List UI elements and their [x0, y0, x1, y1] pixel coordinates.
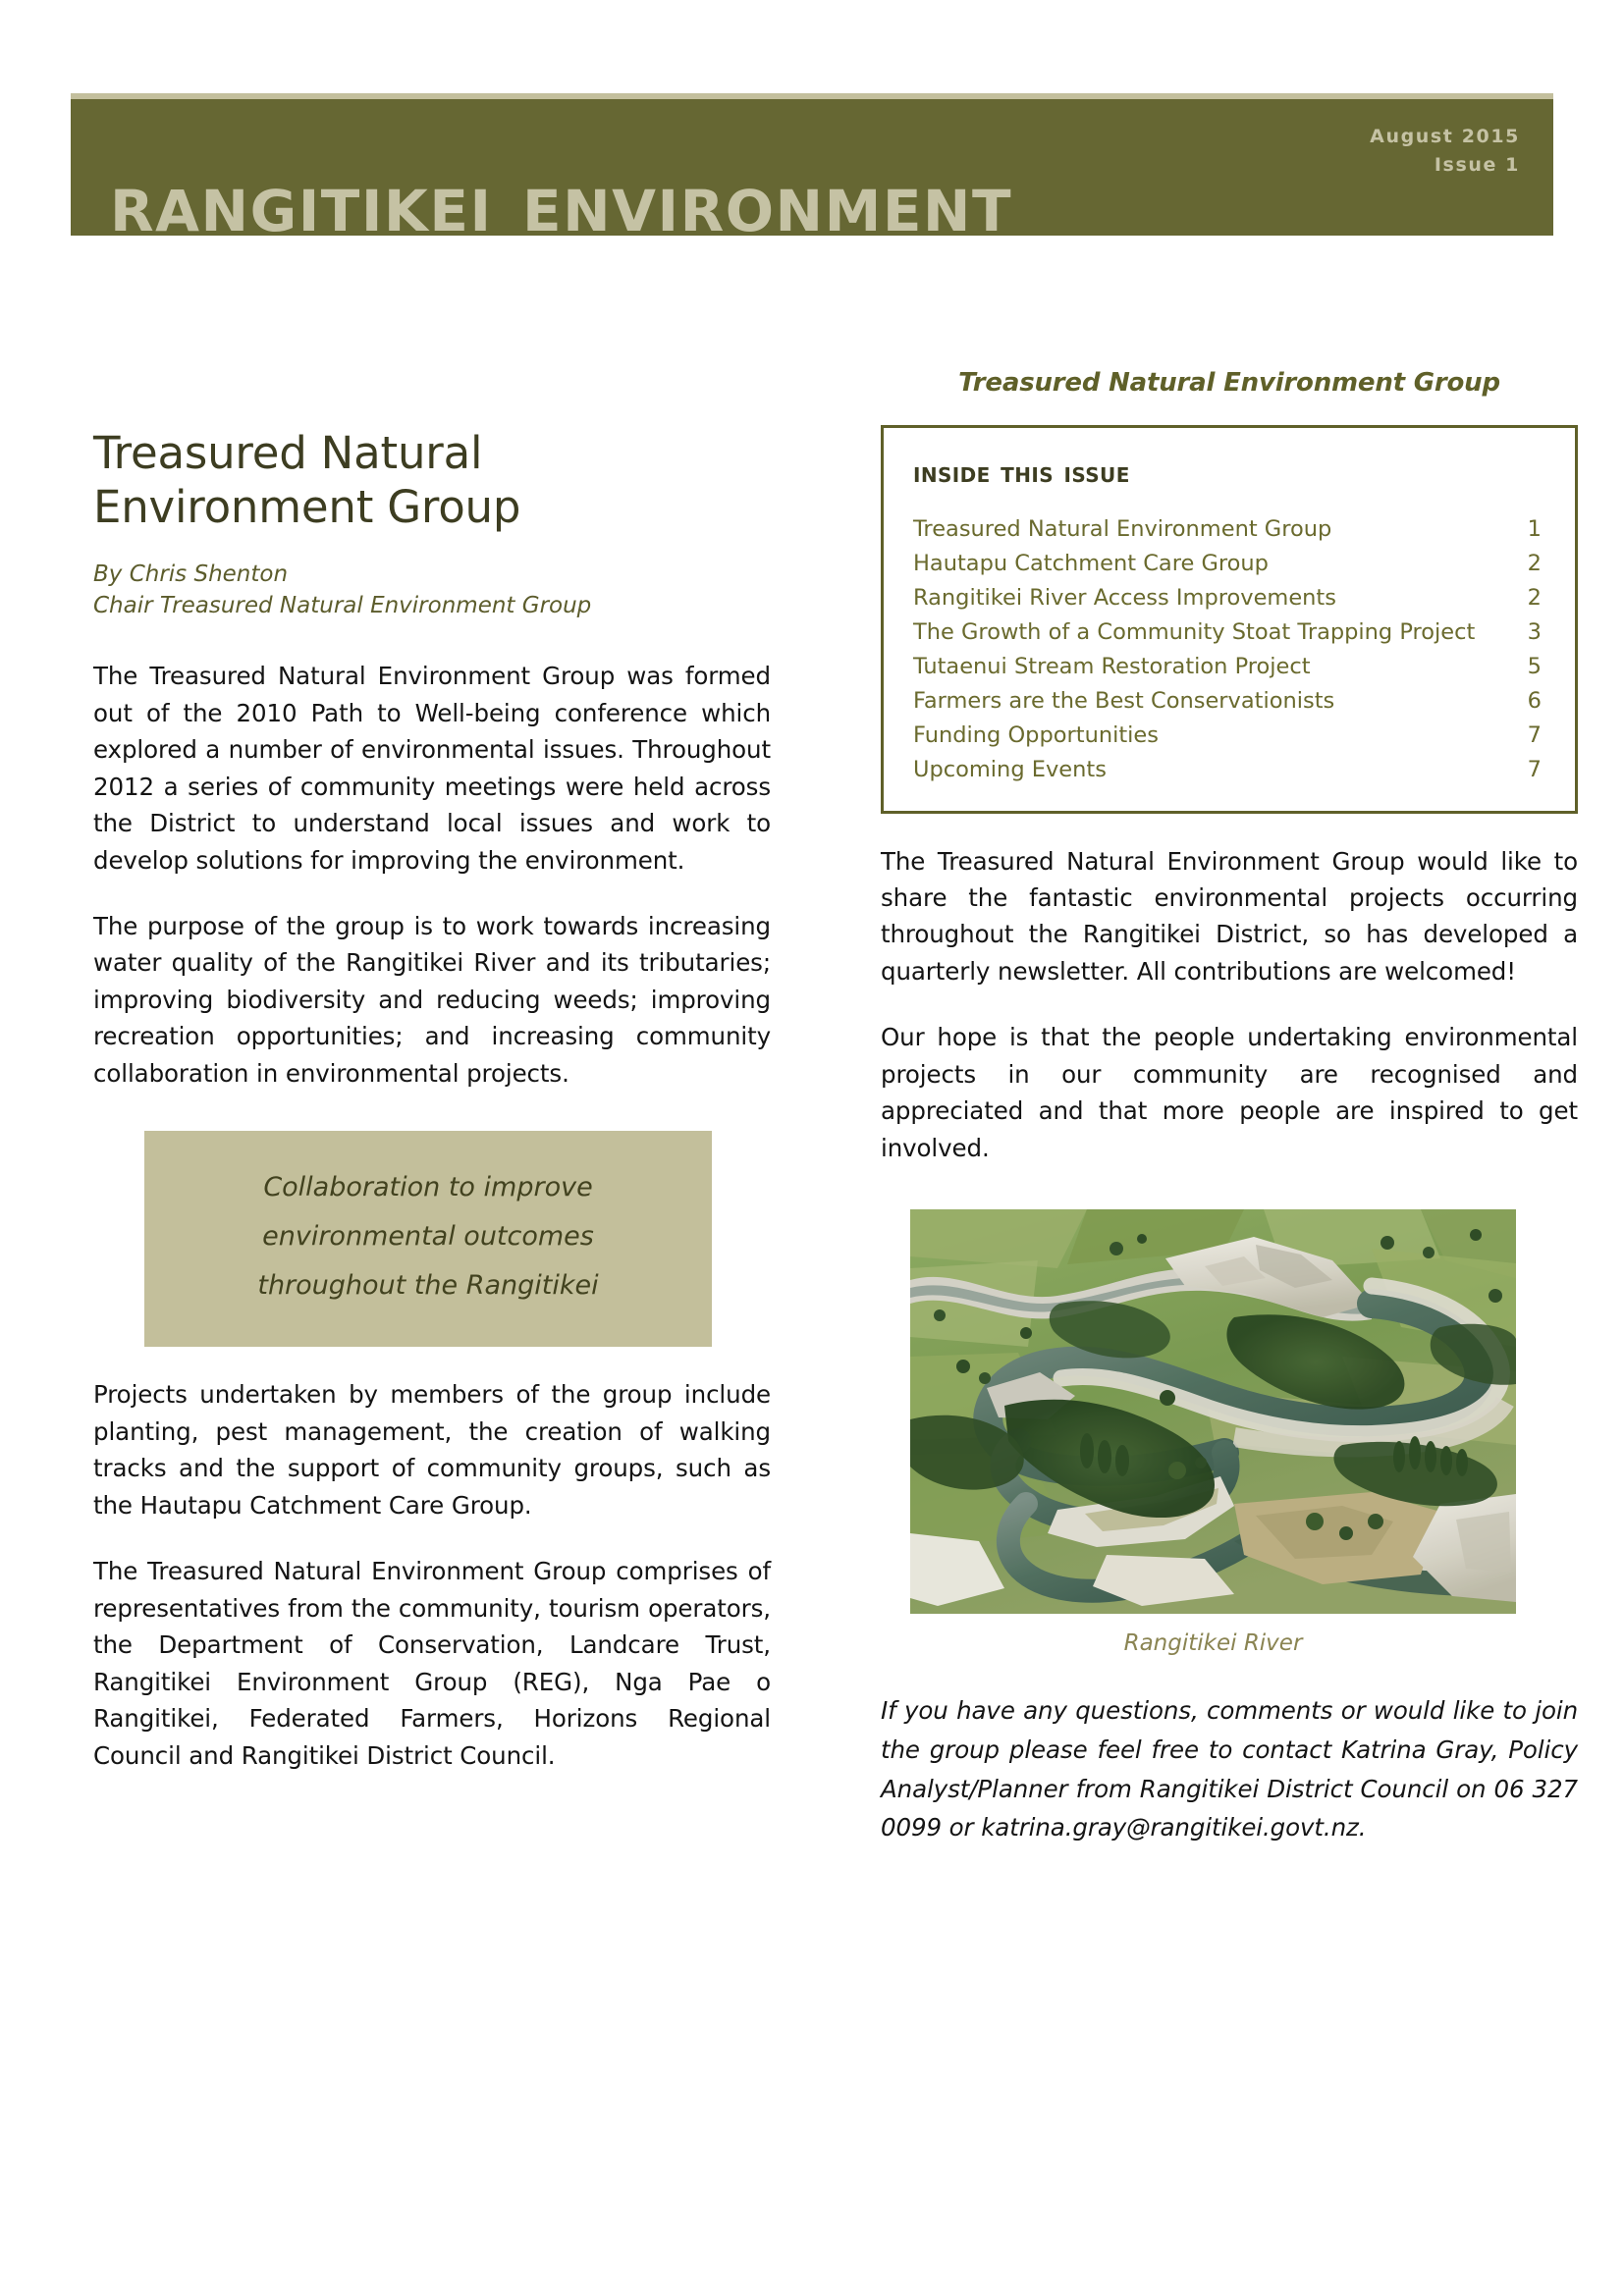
toc-entry-label: The Growth of a Community Stoat Trapping… — [913, 621, 1502, 644]
toc-entry[interactable]: Farmers are the Best Conservationists 6 — [913, 690, 1542, 713]
toc-entry-label: Hautapu Catchment Care Group — [913, 553, 1502, 575]
article-headline: Treasured Natural Environment Group — [93, 427, 771, 535]
issue-number: Issue 1 — [1370, 151, 1520, 180]
toc-entry-label: Funding Opportunities — [913, 724, 1502, 747]
masthead-meta: August 2015 Issue 1 — [1370, 123, 1520, 181]
toc-entry-label: Farmers are the Best Conservationists — [913, 690, 1502, 713]
article-paragraph: The Treasured Natural Environment Group … — [93, 658, 771, 879]
toc-entry-label: Upcoming Events — [913, 759, 1502, 781]
pull-quote-line: environmental outcomes — [197, 1212, 659, 1261]
toc-entry[interactable]: Hautapu Catchment Care Group 2 — [913, 553, 1542, 575]
inside-this-issue-box: Inside This Issue Treasured Natural Envi… — [881, 425, 1578, 814]
toc-entry-label: Treasured Natural Environment Group — [913, 518, 1502, 541]
toc-entry-page: 1 — [1502, 518, 1542, 541]
sidebar-paragraph: The Treasured Natural Environment Group … — [881, 843, 1578, 990]
toc-entry[interactable]: Rangitikei River Access Improvements 2 — [913, 587, 1542, 610]
article-paragraph: Projects undertaken by members of the gr… — [93, 1376, 771, 1523]
sidebar-paragraph: Our hope is that the people undertaking … — [881, 1019, 1578, 1166]
masthead-banner: August 2015 Issue 1 Rangitikei Environme… — [71, 93, 1553, 236]
toc-entry-page: 2 — [1502, 587, 1542, 610]
toc-kicker: Treasured Natural Environment Group — [881, 368, 1578, 398]
pull-quote-line: Collaboration to improve — [197, 1163, 659, 1212]
article-paragraph: The purpose of the group is to work towa… — [93, 908, 771, 1092]
river-photo-image — [910, 1209, 1516, 1614]
toc-entry[interactable]: Tutaenui Stream Restoration Project 5 — [913, 656, 1542, 678]
byline-role: Chair Treasured Natural Environment Grou… — [93, 590, 771, 622]
toc-entry-page: 2 — [1502, 553, 1542, 575]
publication-title: Rangitikei Environment — [110, 162, 1012, 243]
toc-title: Inside This Issue — [913, 455, 1542, 489]
pull-quote-box: Collaboration to improve environmental o… — [144, 1131, 712, 1347]
toc-entry[interactable]: Upcoming Events 7 — [913, 759, 1542, 781]
right-column: Treasured Natural Environment Group Insi… — [881, 368, 1578, 1847]
toc-entry-page: 7 — [1502, 759, 1542, 781]
left-column: Treasured Natural Environment Group By C… — [93, 427, 771, 1774]
pull-quote-line: throughout the Rangitikei — [197, 1261, 659, 1310]
article-paragraph: The Treasured Natural Environment Group … — [93, 1553, 771, 1774]
toc-entry-page: 6 — [1502, 690, 1542, 713]
toc-entry-page: 5 — [1502, 656, 1542, 678]
toc-entry[interactable]: Treasured Natural Environment Group 1 — [913, 518, 1542, 541]
toc-entry-page: 7 — [1502, 724, 1542, 747]
toc-entry[interactable]: Funding Opportunities 7 — [913, 724, 1542, 747]
toc-entry-label: Tutaenui Stream Restoration Project — [913, 656, 1502, 678]
river-photo — [910, 1209, 1516, 1614]
photo-caption: Rangitikei River — [910, 1630, 1516, 1656]
toc-entry-page: 3 — [1502, 621, 1542, 644]
toc-entry-label: Rangitikei River Access Improvements — [913, 587, 1502, 610]
toc-entry[interactable]: The Growth of a Community Stoat Trapping… — [913, 621, 1542, 644]
contact-paragraph: If you have any questions, comments or w… — [881, 1691, 1578, 1847]
issue-date: August 2015 — [1370, 123, 1520, 151]
byline-author: By Chris Shenton — [93, 559, 771, 591]
article-byline: By Chris Shenton Chair Treasured Natural… — [93, 559, 771, 622]
